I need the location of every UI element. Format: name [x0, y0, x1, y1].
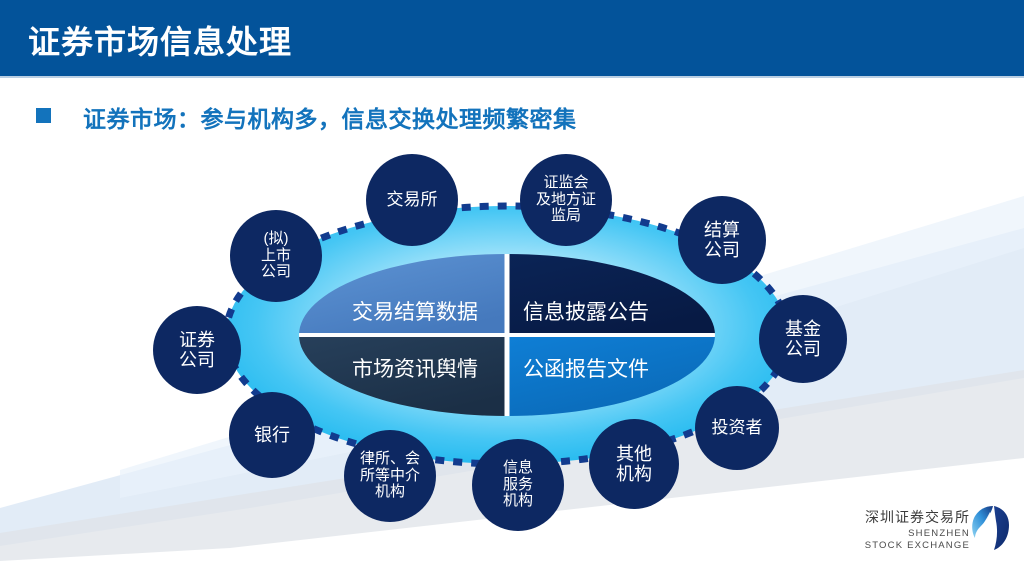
node-other-org[interactable]: 其他机构	[589, 419, 679, 509]
node-label: 其他机构	[612, 444, 656, 484]
node-investor[interactable]: 投资者	[695, 386, 779, 470]
node-label: 结算公司	[700, 220, 744, 260]
node-regulator[interactable]: 证监会及地方证监局	[520, 154, 612, 246]
logo-english-line2: STOCK EXCHANGE	[858, 540, 970, 551]
logo-chinese-name: 深圳证券交易所	[858, 507, 970, 527]
quadrant-label-trade-settlement: 交易结算数据	[340, 296, 490, 326]
node-fund-co[interactable]: 基金公司	[759, 295, 847, 383]
node-label: 银行	[250, 425, 294, 445]
szse-logo: 深圳证券交易所 SHENZHEN STOCK EXCHANGE	[858, 505, 1018, 555]
quadrant-label-disclosure: 信息披露公告	[508, 296, 664, 326]
node-intermediary[interactable]: 律所、会所等中介机构	[344, 430, 436, 522]
node-bank[interactable]: 银行	[229, 392, 315, 478]
logo-text-block: 深圳证券交易所 SHENZHEN STOCK EXCHANGE	[858, 507, 970, 551]
node-label: 投资者	[708, 418, 767, 437]
szse-shield-mark-icon	[970, 505, 1010, 551]
node-securities-co[interactable]: 证券公司	[153, 306, 241, 394]
node-label: 证监会及地方证监局	[532, 175, 600, 225]
node-label: 信息服务机构	[499, 460, 537, 510]
node-label: 交易所	[383, 190, 442, 209]
node-listed-co[interactable]: (拟)上市公司	[230, 210, 322, 302]
node-exchange[interactable]: 交易所	[366, 154, 458, 246]
node-info-service[interactable]: 信息服务机构	[472, 439, 564, 531]
quadrant-label-market-news: 市场资讯舆情	[340, 353, 490, 383]
node-clearing-co[interactable]: 结算公司	[678, 196, 766, 284]
node-label: (拟)上市公司	[257, 231, 295, 281]
logo-english-line1: SHENZHEN	[858, 528, 970, 539]
node-label: 律所、会所等中介机构	[356, 451, 424, 501]
node-label: 证券公司	[175, 330, 219, 370]
slide: 证券市场信息处理 证券市场：参与机构多，信息交换处理频繁密集	[0, 0, 1024, 561]
quadrant-label-official-docs: 公函报告文件	[508, 353, 664, 383]
node-label: 基金公司	[781, 319, 825, 359]
